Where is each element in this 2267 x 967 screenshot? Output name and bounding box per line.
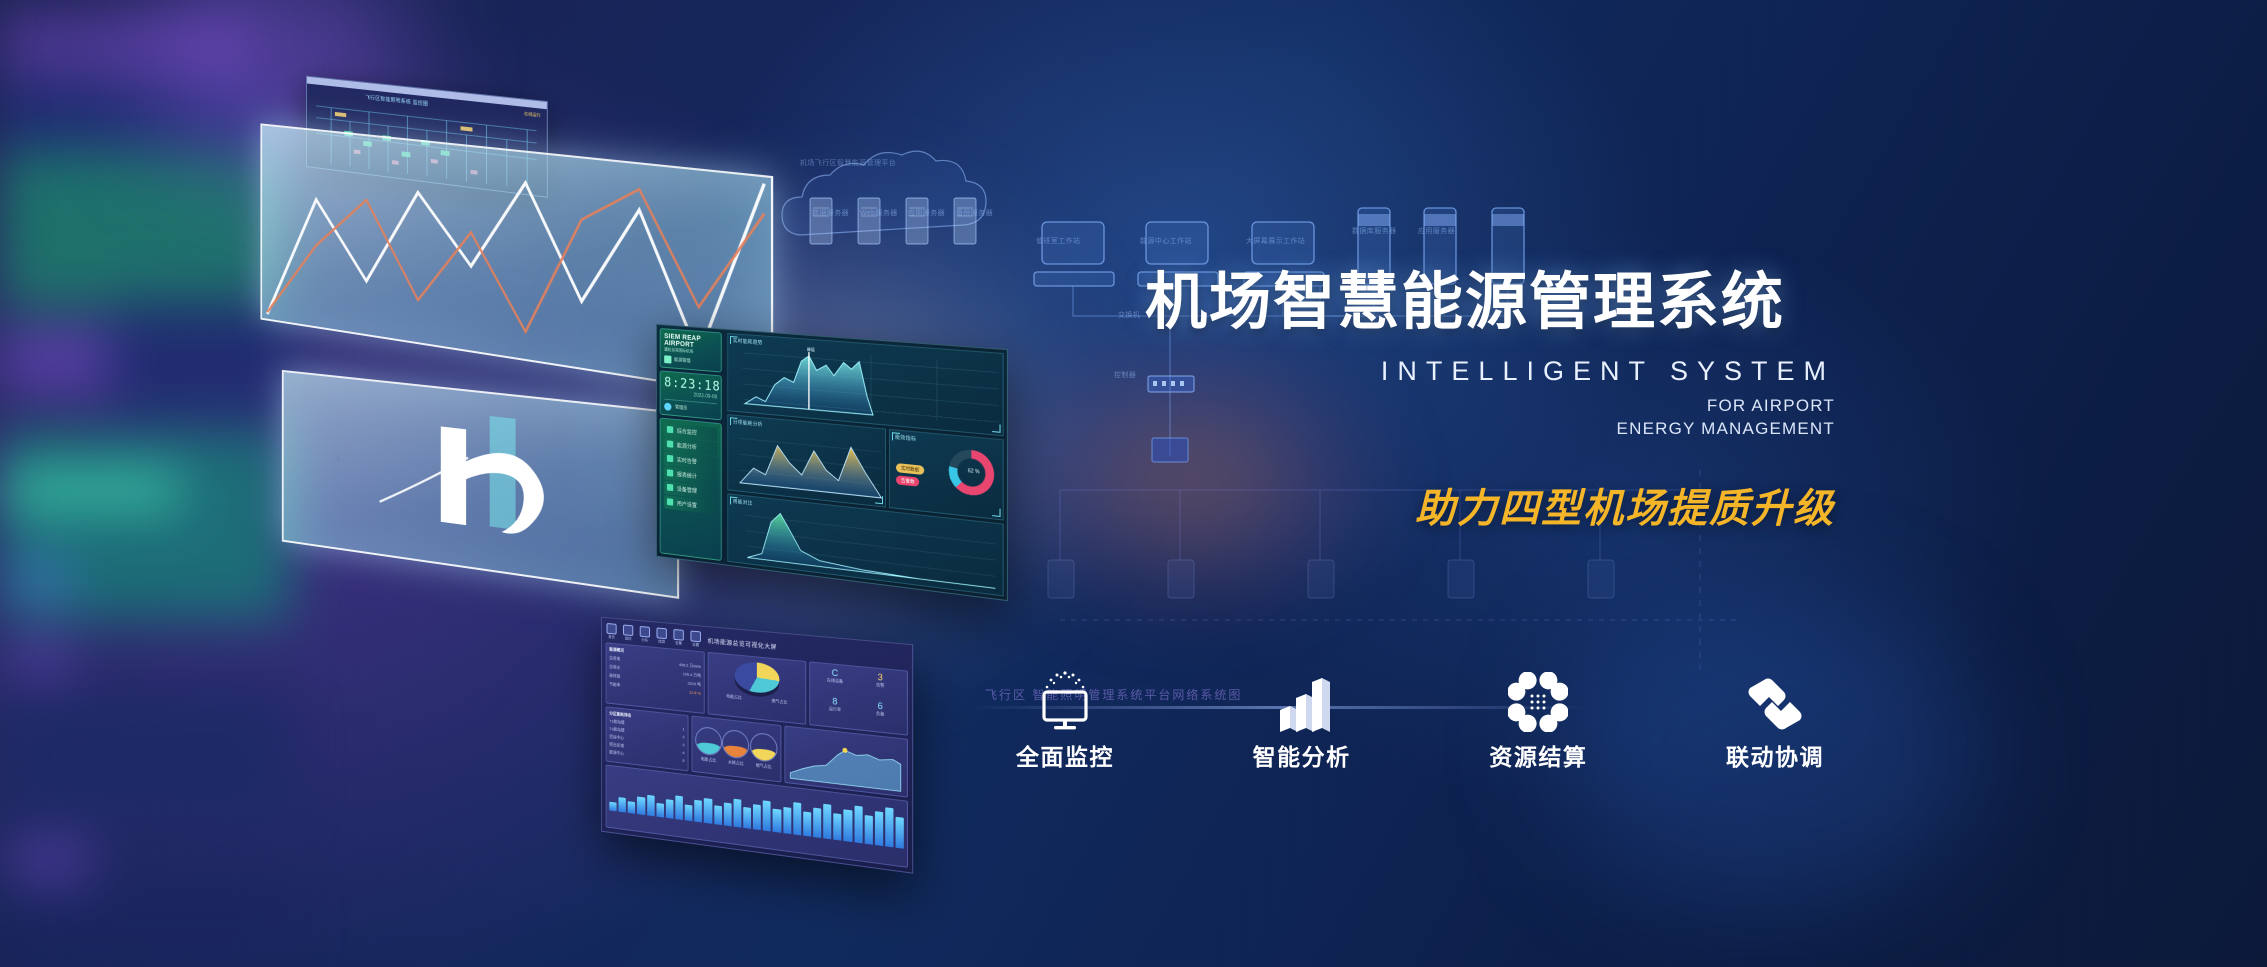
nav-label: 告警 <box>672 640 684 646</box>
topology-label: 数据库服务器 <box>1352 226 1396 236</box>
bar <box>628 801 636 814</box>
table-cell-label: 能源中心 <box>609 749 624 757</box>
pie-card[interactable]: 电能占比 燃气占比 <box>708 652 807 725</box>
feature-item-coordination[interactable]: 联动协调 <box>1690 666 1860 772</box>
table-cell-value: 3 <box>682 742 684 748</box>
feature-label: 联动协调 <box>1690 738 1860 772</box>
nav-label: 首页 <box>606 634 618 640</box>
secondary-dashboard[interactable]: 首页 监控 分析 结算 告警 设置 机场能源总览可视化大屏 能源概况 总用电45… <box>601 617 913 874</box>
gauge-label: 电能占比 <box>695 756 722 765</box>
bar <box>675 795 683 820</box>
cloud-node-label: 备份服务器 <box>956 208 993 218</box>
bar-chart-icon <box>1217 666 1387 732</box>
gauge-label: 水耗占比 <box>722 759 749 768</box>
table-cell-value: 4 <box>682 750 684 756</box>
menu-icon <box>667 426 673 433</box>
nav-icon <box>690 630 700 642</box>
tag-badge: 实时数据 <box>896 463 924 475</box>
bar <box>714 805 722 825</box>
pie-legend: 燃气占比 <box>772 698 788 706</box>
table-cell-label: T1航站楼 <box>609 718 624 726</box>
info-value: 12.8 % <box>689 690 701 697</box>
table-cell-value: 2 <box>682 734 684 740</box>
brand-name: SIEM REAP AIRPORT 暹粒吴哥国际机场 <box>664 333 717 355</box>
nav-item[interactable]: 首页 <box>606 622 618 640</box>
gauge-label: 燃气占比 <box>750 762 777 771</box>
bar <box>823 804 831 840</box>
info-label: 总用电 <box>609 655 620 662</box>
bar <box>753 804 761 830</box>
bar <box>743 807 751 829</box>
brand-mark-icon <box>664 355 671 363</box>
glass-logo-letter: h <box>337 456 341 463</box>
info-value: 126.4 万吨 <box>683 671 701 679</box>
brand-cn: 能源管理 <box>674 357 690 364</box>
feature-label: 全面监控 <box>980 738 1150 772</box>
liquid-gauge <box>722 729 749 760</box>
bar <box>896 817 904 849</box>
feature-label: 资源结算 <box>1453 738 1623 772</box>
table-cell-value: 1 <box>682 726 684 732</box>
nav-icon <box>623 624 633 636</box>
feature-item-monitor[interactable]: 全面监控 <box>980 666 1150 772</box>
bar <box>724 802 732 826</box>
tagline: 助力四型机场提质升级 <box>1145 476 1835 534</box>
menu-label: 实时告警 <box>677 456 697 466</box>
bar <box>864 815 872 845</box>
info-label: 碳排放 <box>609 673 620 680</box>
menu-label: 报表统计 <box>677 470 697 480</box>
info-value: 3215 吨 <box>688 681 701 688</box>
cloud-caption: 机场飞行区智慧能源管理平台 <box>800 158 896 168</box>
corner-bracket-icon <box>992 508 1000 517</box>
four-petal-icon <box>1453 666 1623 732</box>
table-cell-label: 货运中心 <box>609 734 624 742</box>
bar <box>647 795 655 816</box>
info-label: 总用水 <box>609 664 620 671</box>
bar <box>609 802 616 812</box>
dashboard-main-area: 实时能耗趋势 峰值 <box>724 330 1006 600</box>
table-cell-label: 塔台区域 <box>609 741 624 749</box>
interlock-icon <box>1690 666 1860 732</box>
cloud-node-label: Web服务器 <box>860 208 898 218</box>
kpi-card[interactable]: C在线设备 3告警 8运行率 6负载 <box>810 661 908 735</box>
bar <box>704 798 712 824</box>
area-chart-card[interactable] <box>784 725 907 797</box>
nav-label: 监控 <box>622 636 634 642</box>
liquid-gauges[interactable]: 电能占比 水耗占比 燃气占比 <box>691 715 781 782</box>
dashboard-menu[interactable]: 综合监控 能源分析 实时告警 报表统计 设备管理 用户设置 <box>660 417 722 561</box>
nav-label: 结算 <box>656 639 668 645</box>
bar <box>763 800 771 831</box>
dashboard2-title: 机场能源总览可视化大屏 <box>708 635 777 650</box>
bar <box>844 809 852 841</box>
table-cell-value: 5 <box>682 758 684 764</box>
bar <box>619 797 627 813</box>
subtitle-en-2: FOR AIRPORT <box>1145 395 1835 416</box>
nav-item[interactable]: 结算 <box>656 627 668 645</box>
main-dashboard-monitor[interactable]: SIEM REAP AIRPORT 暹粒吴哥国际机场 能源管理 8:23:18 … <box>656 324 1008 601</box>
nav-label: 设置 <box>689 642 701 648</box>
nav-item[interactable]: 设置 <box>689 630 701 648</box>
menu-icon <box>667 455 673 462</box>
feature-item-analysis[interactable]: 智能分析 <box>1217 666 1387 772</box>
nav-icon <box>673 628 683 640</box>
bar <box>833 813 841 840</box>
page-title: 机场智慧能源管理系统 <box>1145 272 1835 334</box>
hero-text-block: 机场智慧能源管理系统 INTELLIGENT SYSTEM FOR AIRPOR… <box>1145 272 1835 534</box>
feature-item-settlement[interactable]: 资源结算 <box>1453 666 1623 772</box>
bar <box>885 807 893 847</box>
nav-icon <box>640 625 650 637</box>
banner-stage: 机场飞行区智慧能源管理平台 数据服务器 Web服务器 应用服务器 备份服务器 值… <box>0 0 2267 967</box>
liquid-gauge <box>695 726 722 757</box>
menu-icon <box>667 499 673 506</box>
bar <box>803 811 811 837</box>
subtitle-en-3: ENERGY MANAGEMENT <box>1145 418 1835 439</box>
gauge-panel-efficiency[interactable]: 能效指标 62 % 实时数据 告警数 <box>889 429 1004 521</box>
dashboard-sidebar: SIEM REAP AIRPORT 暹粒吴哥国际机场 能源管理 8:23:18 … <box>657 325 724 564</box>
topology-label: 控制器 <box>1114 370 1136 380</box>
info-card[interactable]: 能源概况 总用电458.2 万kWh 总用水126.4 万吨 碳排放3215 吨… <box>606 642 705 713</box>
nav-item[interactable]: 分析 <box>639 625 651 643</box>
gauge-value: 62 % <box>968 468 980 475</box>
user-name: 管理员 <box>675 404 687 411</box>
chart-panel-breakdown[interactable]: 分项能耗分析 <box>727 414 886 508</box>
info-label: 节能率 <box>609 681 620 688</box>
topology-label: 应用服务器 <box>1418 226 1455 236</box>
subtitle-en: INTELLIGENT SYSTEM <box>1145 356 1835 387</box>
menu-label: 综合监控 <box>677 427 697 437</box>
menu-label: 用户设置 <box>677 499 697 509</box>
topology-label: 能源中心工作站 <box>1140 236 1192 246</box>
bar <box>694 800 702 823</box>
topology-label: 值班室工作站 <box>1036 236 1080 246</box>
bar <box>637 796 645 815</box>
nav-item[interactable]: 监控 <box>622 624 634 642</box>
menu-icon <box>667 441 673 448</box>
menu-label: 能源分析 <box>677 441 697 451</box>
bar <box>783 806 791 834</box>
topology-label: 交换机 <box>1118 310 1140 320</box>
cloud-node-label: 数据服务器 <box>812 208 849 218</box>
peak-label: 峰值 <box>807 347 815 353</box>
bar <box>656 803 664 817</box>
bar <box>685 804 693 821</box>
menu-icon <box>667 470 673 477</box>
bar <box>854 805 862 843</box>
pie-legend: 电能占比 <box>726 693 741 701</box>
table-cell-label: T2航站楼 <box>609 726 624 734</box>
nav-label: 分析 <box>639 637 651 643</box>
bar <box>666 799 674 819</box>
bar <box>813 808 821 838</box>
rank-table[interactable]: 分区能耗排名 T1航站楼1 T2航站楼2 货运中心3 塔台区域4 能源中心5 <box>606 706 689 771</box>
tag-badge: 告警数 <box>896 475 920 487</box>
bar <box>773 808 781 832</box>
nav-icon <box>607 623 617 635</box>
pie-chart <box>734 660 779 694</box>
topology-label: 大屏幕展示工作站 <box>1246 236 1305 246</box>
bar <box>793 802 801 835</box>
liquid-gauge <box>750 732 777 763</box>
menu-icon <box>667 484 673 491</box>
dashboard-clock-card: 8:23:18 2023-09-08 管理员 <box>660 370 722 420</box>
bar <box>875 811 883 846</box>
panel-title: 能效指标 <box>895 433 916 442</box>
menu-label: 设备管理 <box>677 485 697 495</box>
brand-sub: 暹粒吴哥国际机场 <box>664 347 717 355</box>
feature-label: 智能分析 <box>1217 738 1387 772</box>
nav-item[interactable]: 告警 <box>672 628 684 646</box>
user-avatar-icon <box>664 402 671 410</box>
feature-row: 全面监控 智能分析 <box>980 666 1860 772</box>
monitor-icon <box>980 666 1150 732</box>
info-value: 458.2 万kWh <box>679 662 701 670</box>
dashboard-brand-card: SIEM REAP AIRPORT 暹粒吴哥国际机场 能源管理 <box>660 328 722 372</box>
nav-icon <box>657 627 667 639</box>
cloud-node-label: 应用服务器 <box>908 208 945 218</box>
bar <box>733 799 741 828</box>
